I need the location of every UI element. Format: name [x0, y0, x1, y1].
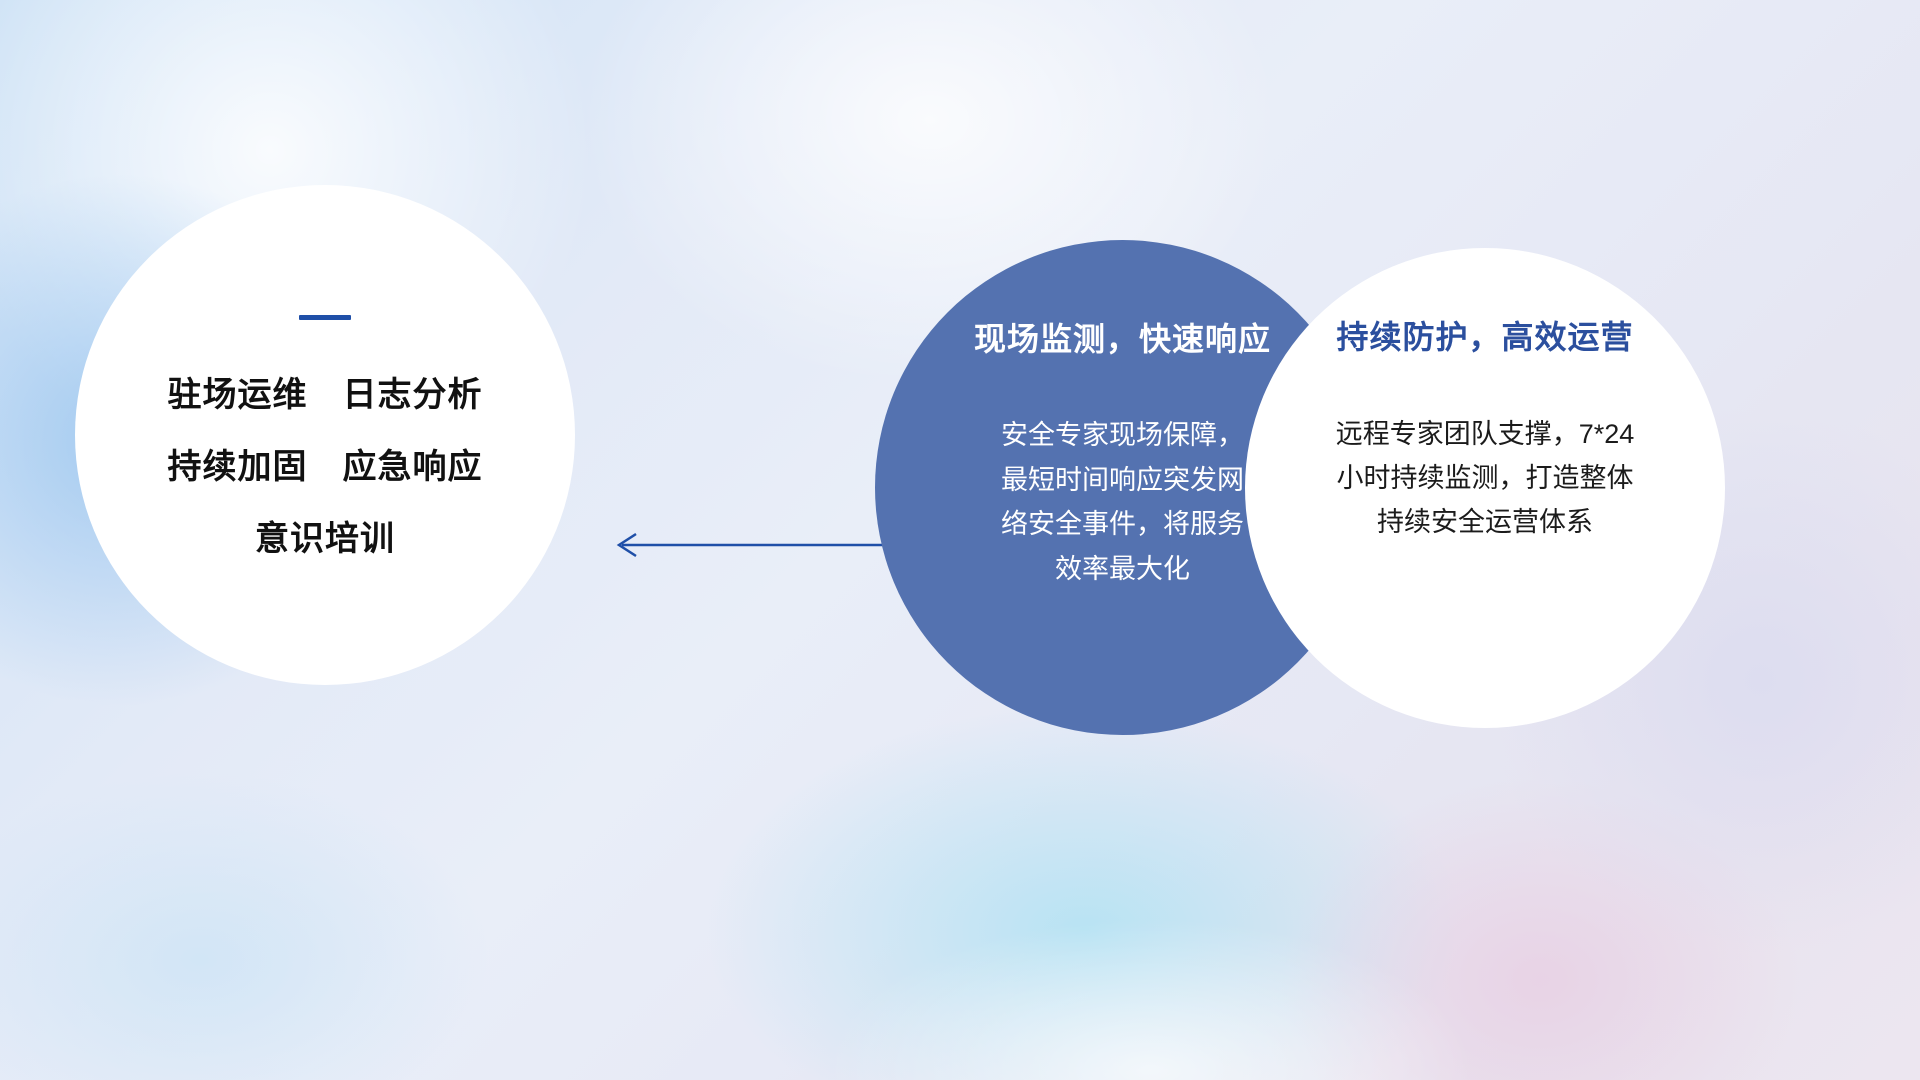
- middle-body-line-2: 最短时间响应突发网: [958, 458, 1288, 503]
- right-body-line-3: 持续安全运营体系: [1275, 501, 1695, 545]
- middle-body-line-1: 安全专家现场保障，: [958, 413, 1288, 458]
- right-body-line-1: 远程专家团队支撑，7*24: [1275, 413, 1695, 457]
- background-bloom-bottom-center: [700, 860, 1600, 1080]
- middle-circle-title: 现场监测，快速响应: [974, 322, 1271, 357]
- right-circle-body: 远程专家团队支撑，7*24 小时持续监测，打造整体 持续安全运营体系: [1275, 413, 1695, 544]
- left-circle-content: 驻场运维 日志分析 持续加固 应急响应 意识培训: [75, 185, 575, 685]
- horizontal-dash-accent-icon: [299, 315, 351, 320]
- infographic-slide: 驻场运维 日志分析 持续加固 应急响应 意识培训 现场监测，快速响应 安全专家现…: [0, 0, 1920, 1080]
- background-bloom-bottom-left: [0, 700, 600, 1080]
- right-circle-title: 持续防护，高效运营: [1336, 320, 1633, 355]
- left-circle-line-1: 驻场运维 日志分析: [168, 378, 483, 412]
- left-circle-line-2: 持续加固 应急响应: [168, 450, 483, 484]
- middle-circle-body: 安全专家现场保障， 最短时间响应突发网 络安全事件，将服务 效率最大化: [958, 413, 1288, 591]
- left-circle-line-3: 意识培训: [255, 522, 395, 556]
- middle-body-line-3: 络安全事件，将服务: [958, 502, 1288, 547]
- right-circle-content: 持续防护，高效运营 远程专家团队支撑，7*24 小时持续监测，打造整体 持续安全…: [1245, 248, 1725, 728]
- middle-body-line-4: 效率最大化: [958, 547, 1288, 592]
- right-body-line-2: 小时持续监测，打造整体: [1275, 457, 1695, 501]
